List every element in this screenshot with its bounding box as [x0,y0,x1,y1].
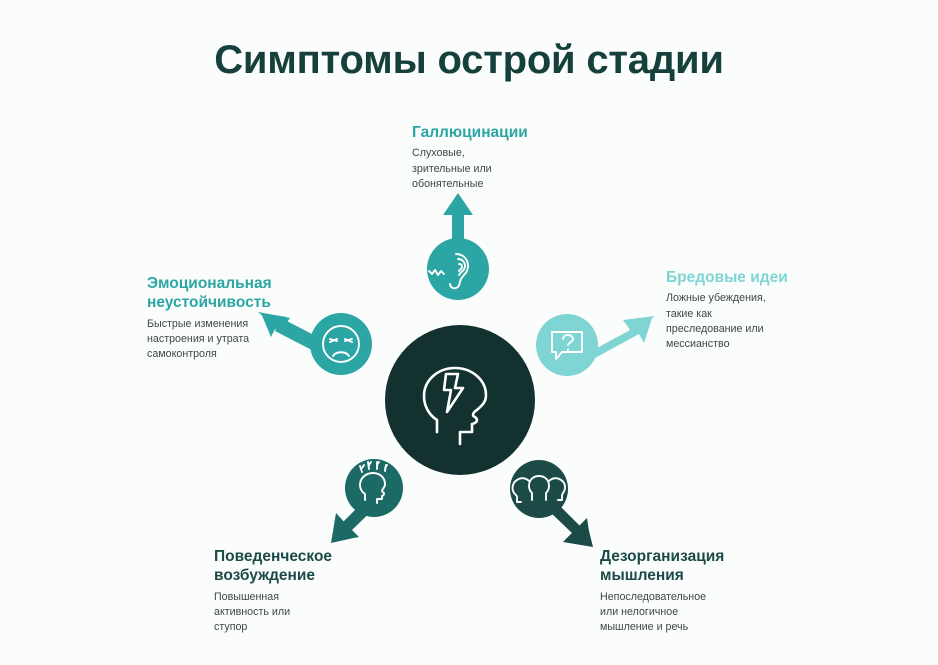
label-delusions-description: Ложные убеждения, такие как преследовани… [666,291,846,352]
node-behavioral-agitation[interactable] [345,459,403,517]
label-behavioral-agitation-description: Повышенная активность или ступор [214,590,389,636]
infographic-canvas: Симптомы острой стадии [0,0,938,665]
node-emotional-instability[interactable] [310,313,372,375]
label-hallucinations-description: Слуховые, зрительные или обонятельные [412,146,602,192]
node-hallucinations[interactable] [427,238,489,300]
label-delusions: Бредовые идеи Ложные убеждения, такие ка… [666,268,846,352]
label-emotional-instability-description: Быстрые изменения настроения и утрата са… [147,317,297,363]
label-hallucinations-heading: Галлюцинации [412,123,602,142]
node-disorganized-thinking[interactable] [510,460,568,518]
label-disorganized-thinking: Дезорганизация мышления Непоследовательн… [600,547,785,635]
label-disorganized-thinking-heading: Дезорганизация мышления [600,547,785,586]
acute-stage-hub[interactable] [385,325,535,475]
label-hallucinations: Галлюцинации Слуховые, зрительные или об… [412,123,602,192]
label-emotional-instability: Эмоциональная неустойчивость Быстрые изм… [147,274,297,362]
label-disorganized-thinking-description: Непоследовательное или нелогичное мышлен… [600,590,785,636]
label-emotional-instability-heading: Эмоциональная неустойчивость [147,274,297,313]
label-delusions-heading: Бредовые идеи [666,268,846,287]
label-behavioral-agitation-heading: Поведенческое возбуждение [214,547,389,586]
node-delusions[interactable] [536,314,598,376]
label-behavioral-agitation: Поведенческое возбуждение Повышенная акт… [214,547,389,635]
